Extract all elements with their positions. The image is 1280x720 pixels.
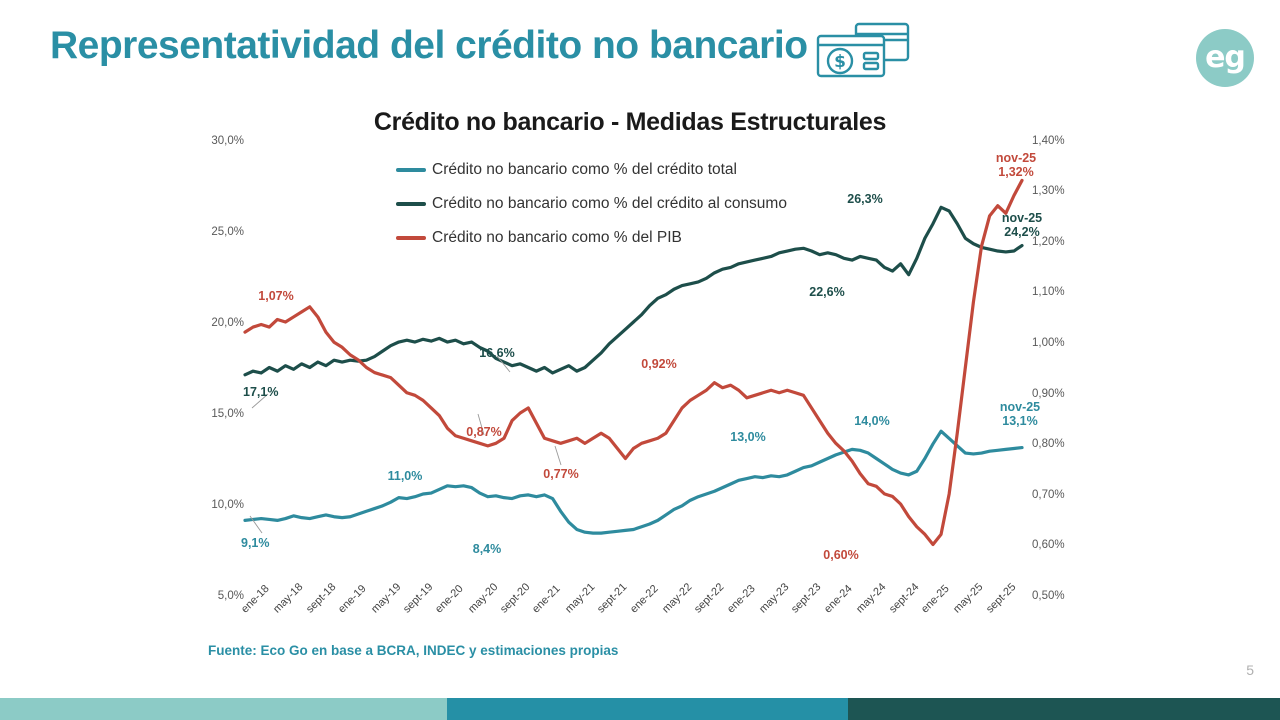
chart-plot-area bbox=[0, 96, 1280, 656]
page-number: 5 bbox=[1246, 662, 1254, 678]
page-title: Representatividad del crédito no bancari… bbox=[50, 24, 808, 68]
callout-green-22-6: 22,6% bbox=[797, 285, 857, 299]
callout-green-end-date: nov-25 bbox=[990, 211, 1054, 225]
logo-text: eg bbox=[1205, 43, 1245, 73]
eco-go-logo: eg bbox=[1196, 29, 1254, 87]
bar-segment-dark bbox=[848, 698, 1280, 720]
callout-red-0-60: 0,60% bbox=[812, 548, 870, 562]
callout-leader-line bbox=[555, 446, 561, 465]
callout-teal-9-1: 9,1% bbox=[241, 536, 270, 550]
callout-green-17-1: 17,1% bbox=[243, 385, 278, 399]
credit-cards-money-icon: $ bbox=[812, 20, 912, 82]
callout-teal-end: nov-25 13,1% bbox=[988, 400, 1052, 429]
callout-red-0-77: 0,77% bbox=[532, 467, 590, 481]
chart-container: Crédito no bancario - Medidas Estructura… bbox=[0, 96, 1280, 656]
series-line-credito-consumo bbox=[245, 207, 1022, 374]
callout-green-end: nov-25 24,2% bbox=[990, 211, 1054, 240]
callout-teal-11-0: 11,0% bbox=[375, 469, 435, 483]
bar-segment-light bbox=[0, 698, 447, 720]
callout-green-16-6: 16,6% bbox=[467, 346, 527, 360]
bar-segment-medium bbox=[447, 698, 848, 720]
callout-teal-end-date: nov-25 bbox=[988, 400, 1052, 414]
callout-red-end-date: nov-25 bbox=[984, 151, 1048, 165]
callout-leader-lines bbox=[250, 356, 561, 533]
chart-source-note: Fuente: Eco Go en base a BCRA, INDEC y e… bbox=[208, 643, 618, 658]
callout-red-0-92: 0,92% bbox=[630, 357, 688, 371]
callout-red-1-07: 1,07% bbox=[247, 289, 305, 303]
callout-teal-8-4: 8,4% bbox=[460, 542, 514, 556]
callout-green-end-value: 24,2% bbox=[990, 225, 1054, 239]
bottom-decorative-bar bbox=[0, 698, 1280, 720]
callout-red-end-value: 1,32% bbox=[984, 165, 1048, 179]
callout-red-0-87: 0,87% bbox=[455, 425, 513, 439]
callout-teal-13-0: 13,0% bbox=[718, 430, 778, 444]
callout-teal-end-value: 13,1% bbox=[988, 414, 1052, 428]
callout-red-end: nov-25 1,32% bbox=[984, 151, 1048, 180]
svg-text:$: $ bbox=[834, 52, 846, 72]
callout-teal-14-0: 14,0% bbox=[842, 414, 902, 428]
series-line-credito-total bbox=[245, 431, 1022, 533]
callout-green-26-3: 26,3% bbox=[835, 192, 895, 206]
